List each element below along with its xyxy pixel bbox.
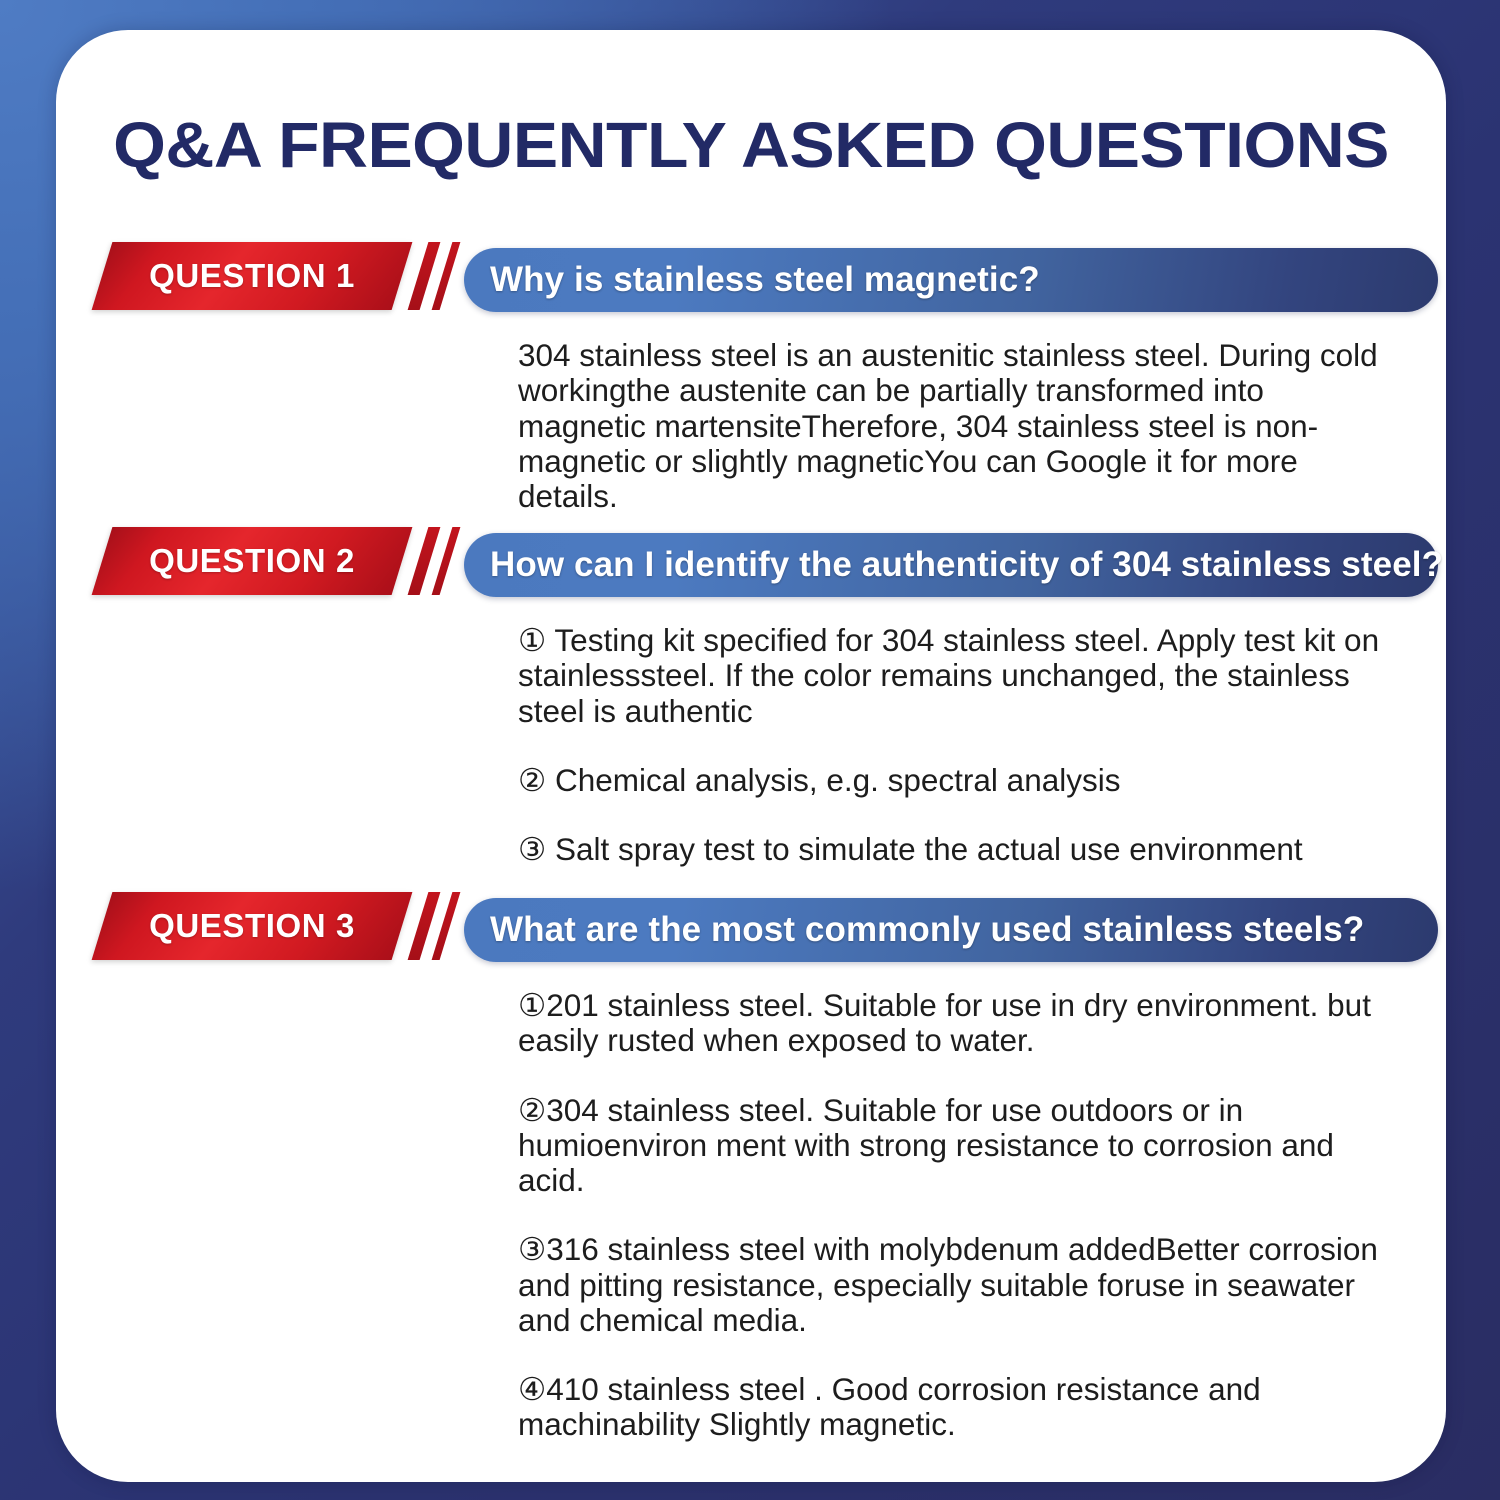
question-text-2: How can I identify the authenticity of 3… — [464, 545, 1446, 585]
answer-paragraph: ③ Salt spray test to simulate the actual… — [518, 832, 1400, 867]
answer-body-2: ① Testing kit specified for 304 stainles… — [518, 623, 1400, 867]
faq-item-3: QUESTION 3 What are the most commonly us… — [56, 892, 1446, 984]
answer-paragraph: ② Chemical analysis, e.g. spectral analy… — [518, 763, 1400, 798]
question-text-1: Why is stainless steel magnetic? — [464, 260, 1056, 300]
question-badge-label-1: QUESTION 1 — [102, 242, 402, 310]
answer-paragraph: 304 stainless steel is an austenitic sta… — [518, 338, 1400, 514]
faq-header-3: QUESTION 3 What are the most commonly us… — [56, 892, 1446, 984]
question-badge-1: QUESTION 1 — [92, 242, 413, 310]
faq-card: Q&A FREQUENTLY ASKED QUESTIONS QUESTION … — [56, 30, 1446, 1482]
answer-body-3: ①201 stainless steel. Suitable for use i… — [518, 988, 1400, 1443]
page-title: Q&A FREQUENTLY ASKED QUESTIONS — [56, 108, 1446, 182]
faq-item-2: QUESTION 2 How can I identify the authen… — [56, 527, 1446, 619]
question-badge-3: QUESTION 3 — [92, 892, 413, 960]
answer-body-1: 304 stainless steel is an austenitic sta… — [518, 338, 1400, 514]
question-badge-2: QUESTION 2 — [92, 527, 413, 595]
faq-header-1: QUESTION 1 Why is stainless steel magnet… — [56, 242, 1446, 334]
answer-paragraph: ③316 stainless steel with molybdenum add… — [518, 1232, 1400, 1338]
question-pill-1[interactable]: Why is stainless steel magnetic? — [464, 248, 1438, 312]
question-badge-label-2: QUESTION 2 — [102, 527, 402, 595]
faq-header-2: QUESTION 2 How can I identify the authen… — [56, 527, 1446, 619]
question-text-3: What are the most commonly used stainles… — [464, 910, 1380, 950]
answer-paragraph: ①201 stainless steel. Suitable for use i… — [518, 988, 1400, 1059]
question-pill-2[interactable]: How can I identify the authenticity of 3… — [464, 533, 1438, 597]
question-badge-label-3: QUESTION 3 — [102, 892, 402, 960]
answer-paragraph: ②304 stainless steel. Suitable for use o… — [518, 1093, 1400, 1199]
answer-paragraph: ④410 stainless steel . Good corrosion re… — [518, 1372, 1400, 1443]
answer-paragraph: ① Testing kit specified for 304 stainles… — [518, 623, 1400, 729]
question-pill-3[interactable]: What are the most commonly used stainles… — [464, 898, 1438, 962]
faq-item-1: QUESTION 1 Why is stainless steel magnet… — [56, 242, 1446, 334]
